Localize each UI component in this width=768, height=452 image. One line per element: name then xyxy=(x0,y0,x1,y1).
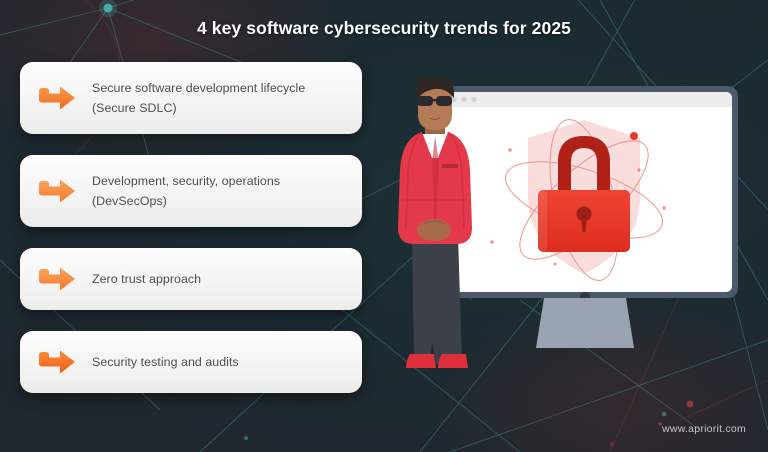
arrow-right-icon xyxy=(36,262,78,296)
trend-card-4[interactable]: Security testing and audits xyxy=(20,331,362,393)
arrow-right-icon xyxy=(36,174,78,208)
trend-card-3-label: Zero trust approach xyxy=(92,269,201,289)
monitor-screen xyxy=(438,92,732,292)
person-hands xyxy=(417,219,451,241)
trend-card-2-label: Development, security, operations (DevSe… xyxy=(92,171,280,211)
arrow-right-icon xyxy=(36,345,78,379)
page-title: 4 key software cybersecurity trends for … xyxy=(0,18,768,39)
watermark: www.apriorit.com xyxy=(662,423,746,435)
trend-card-2[interactable]: Development, security, operations (DevSe… xyxy=(20,155,362,227)
jacket-logo xyxy=(442,164,458,168)
trend-card-3[interactable]: Zero trust approach xyxy=(20,248,362,310)
trend-card-4-label: Security testing and audits xyxy=(92,352,239,372)
monitor-stand xyxy=(536,298,634,348)
security-illustration xyxy=(392,78,768,388)
person-right-shoe xyxy=(438,354,468,368)
trend-card-1-label: Secure software development lifecycle (S… xyxy=(92,78,305,118)
infographic-canvas: 4 key software cybersecurity trends for … xyxy=(0,0,768,452)
arrow-right-icon xyxy=(36,81,78,115)
person-left-shoe xyxy=(406,354,436,368)
trend-card-1[interactable]: Secure software development lifecycle (S… xyxy=(20,62,362,134)
trend-card-list: Secure software development lifecycle (S… xyxy=(20,62,362,414)
browser-titlebar xyxy=(438,92,732,107)
